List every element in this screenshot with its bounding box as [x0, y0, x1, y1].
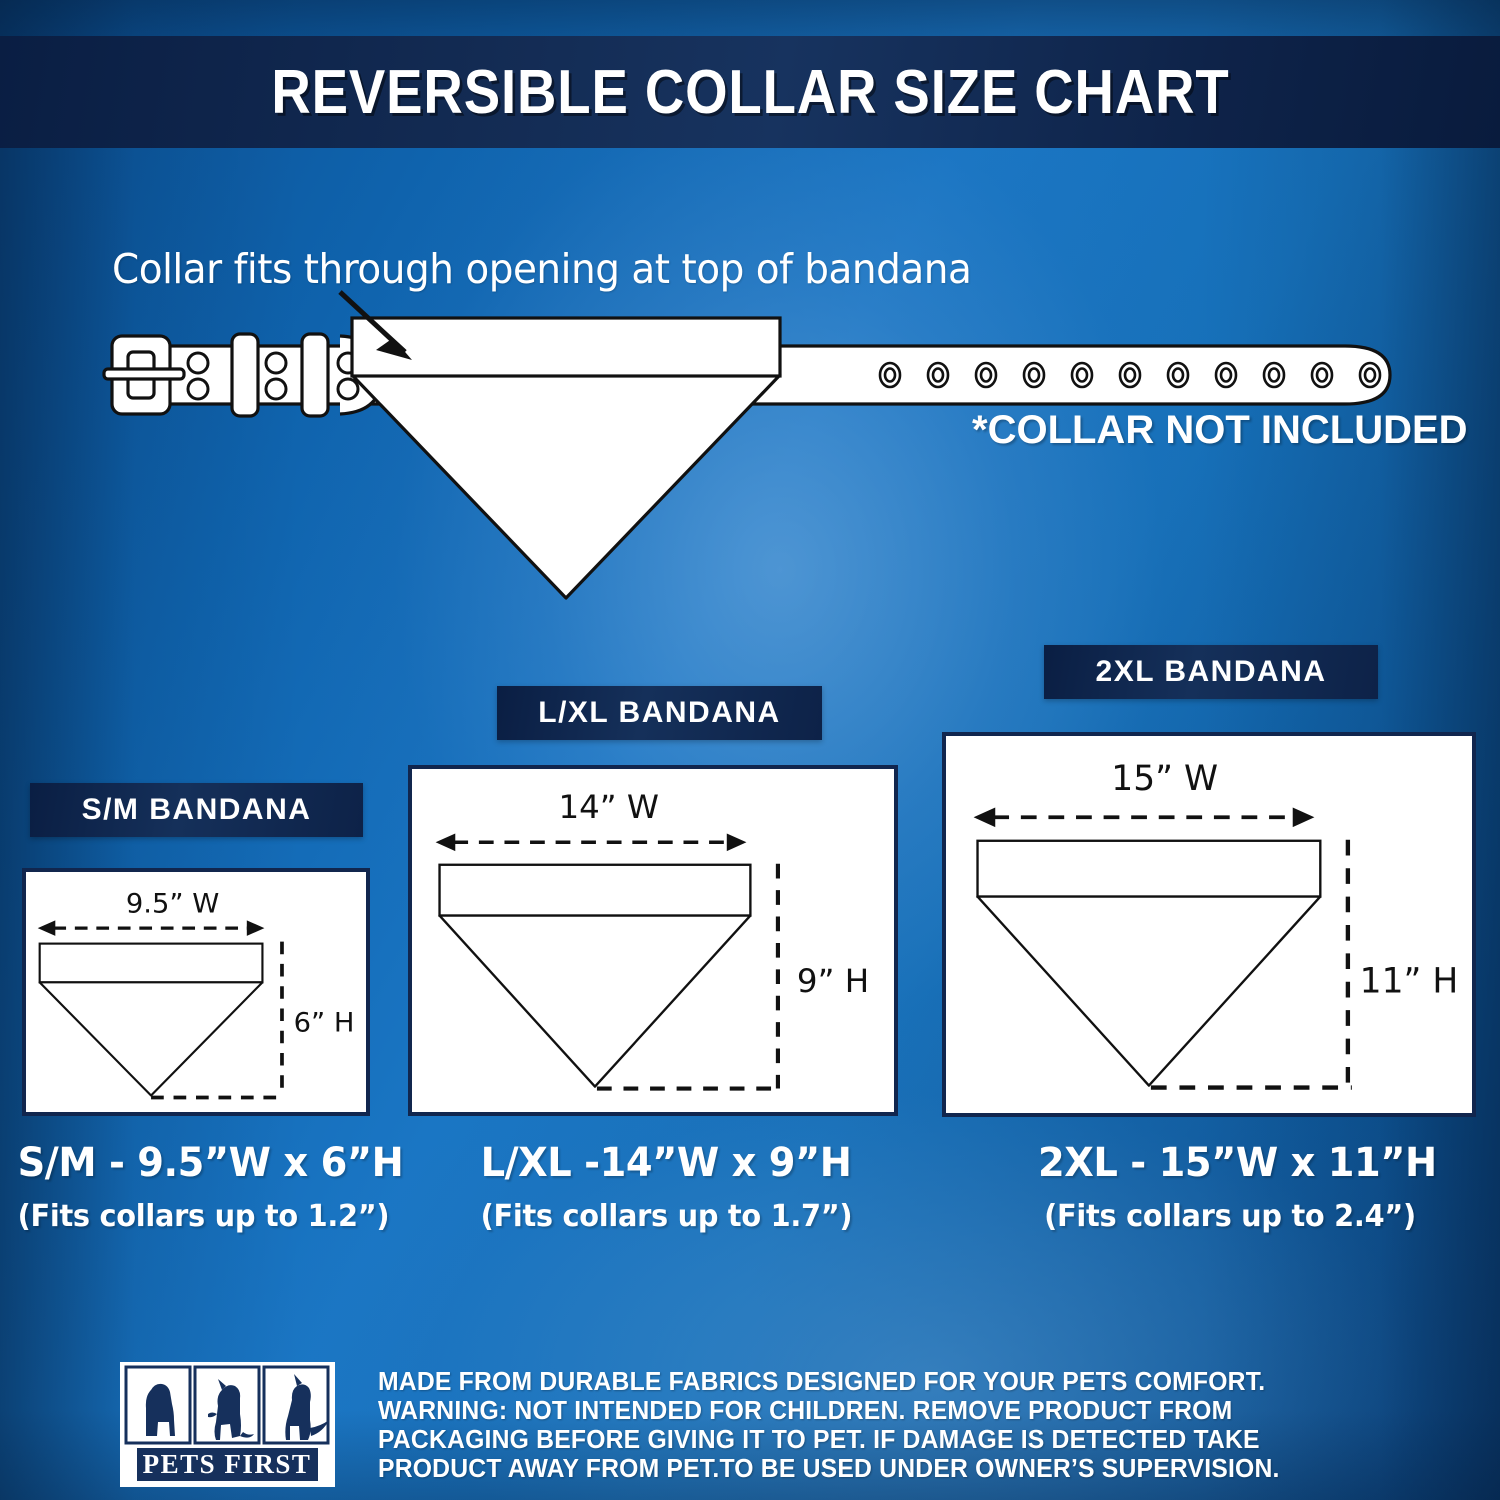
header-banner: REVERSIBLE COLLAR SIZE CHART [0, 36, 1500, 148]
footer-line-3: PACKAGING BEFORE GIVING IT TO PET. IF DA… [378, 1426, 1365, 1455]
footer-line-1: MADE FROM DURABLE FABRICS DESIGNED FOR Y… [378, 1368, 1365, 1397]
size-label-sm: S/M BANDANA [30, 783, 363, 837]
size-caption-lxl-sub: (Fits collars up to 1.7”) [481, 1199, 846, 1234]
size-caption-lxl: L/XL -14”W x 9”H (Fits collars up to 1.7… [473, 1140, 853, 1234]
footer-disclaimer: MADE FROM DURABLE FABRICS DESIGNED FOR Y… [378, 1368, 1396, 1484]
size-label-lxl-text: L/XL BANDANA [538, 696, 780, 730]
collar-not-included-note: *COLLAR NOT INCLUDED [972, 408, 1468, 453]
lxl-height-label: 9” H [797, 962, 869, 1000]
size-caption-2xl-main: 2XL - 15”W x 11”H [1038, 1140, 1422, 1186]
2xl-height-label: 11” H [1360, 962, 1459, 1002]
size-label-lxl: L/XL BANDANA [497, 686, 822, 740]
size-caption-sm-sub: (Fits collars up to 1.2”) [18, 1199, 383, 1234]
size-label-2xl-text: 2XL BANDANA [1096, 655, 1327, 689]
size-label-sm-text: S/M BANDANA [82, 793, 312, 827]
size-card-lxl: 14” W 9” H [408, 765, 898, 1116]
size-caption-lxl-main: L/XL -14”W x 9”H [481, 1140, 846, 1186]
size-card-2xl: 15” W 11” H [942, 732, 1476, 1117]
size-label-2xl: 2XL BANDANA [1044, 645, 1378, 699]
collar-bandana-illustration [90, 280, 1420, 630]
lxl-width-label: 14” W [558, 788, 659, 826]
size-caption-sm: S/M - 9.5”W x 6”H (Fits collars up to 1.… [10, 1140, 390, 1234]
size-caption-sm-main: S/M - 9.5”W x 6”H [18, 1140, 383, 1186]
pets-first-logo: PETS FIRST [120, 1362, 335, 1487]
sm-height-label: 6” H [294, 1008, 355, 1039]
page-title: REVERSIBLE COLLAR SIZE CHART [271, 57, 1229, 128]
size-card-sm: 9.5” W 6” H [22, 868, 370, 1116]
footer-line-2: WARNING: NOT INTENDED FOR CHILDREN. REMO… [378, 1397, 1365, 1426]
2xl-width-label: 15” W [1111, 759, 1218, 799]
size-caption-2xl-sub: (Fits collars up to 2.4”) [1038, 1199, 1422, 1234]
footer-line-4: PRODUCT AWAY FROM PET.TO BE USED UNDER O… [378, 1455, 1365, 1484]
pets-first-wordmark: PETS FIRST [143, 1449, 312, 1479]
sm-width-label: 9.5” W [126, 889, 219, 920]
size-caption-2xl: 2XL - 15”W x 11”H (Fits collars up to 2.… [1030, 1140, 1430, 1234]
